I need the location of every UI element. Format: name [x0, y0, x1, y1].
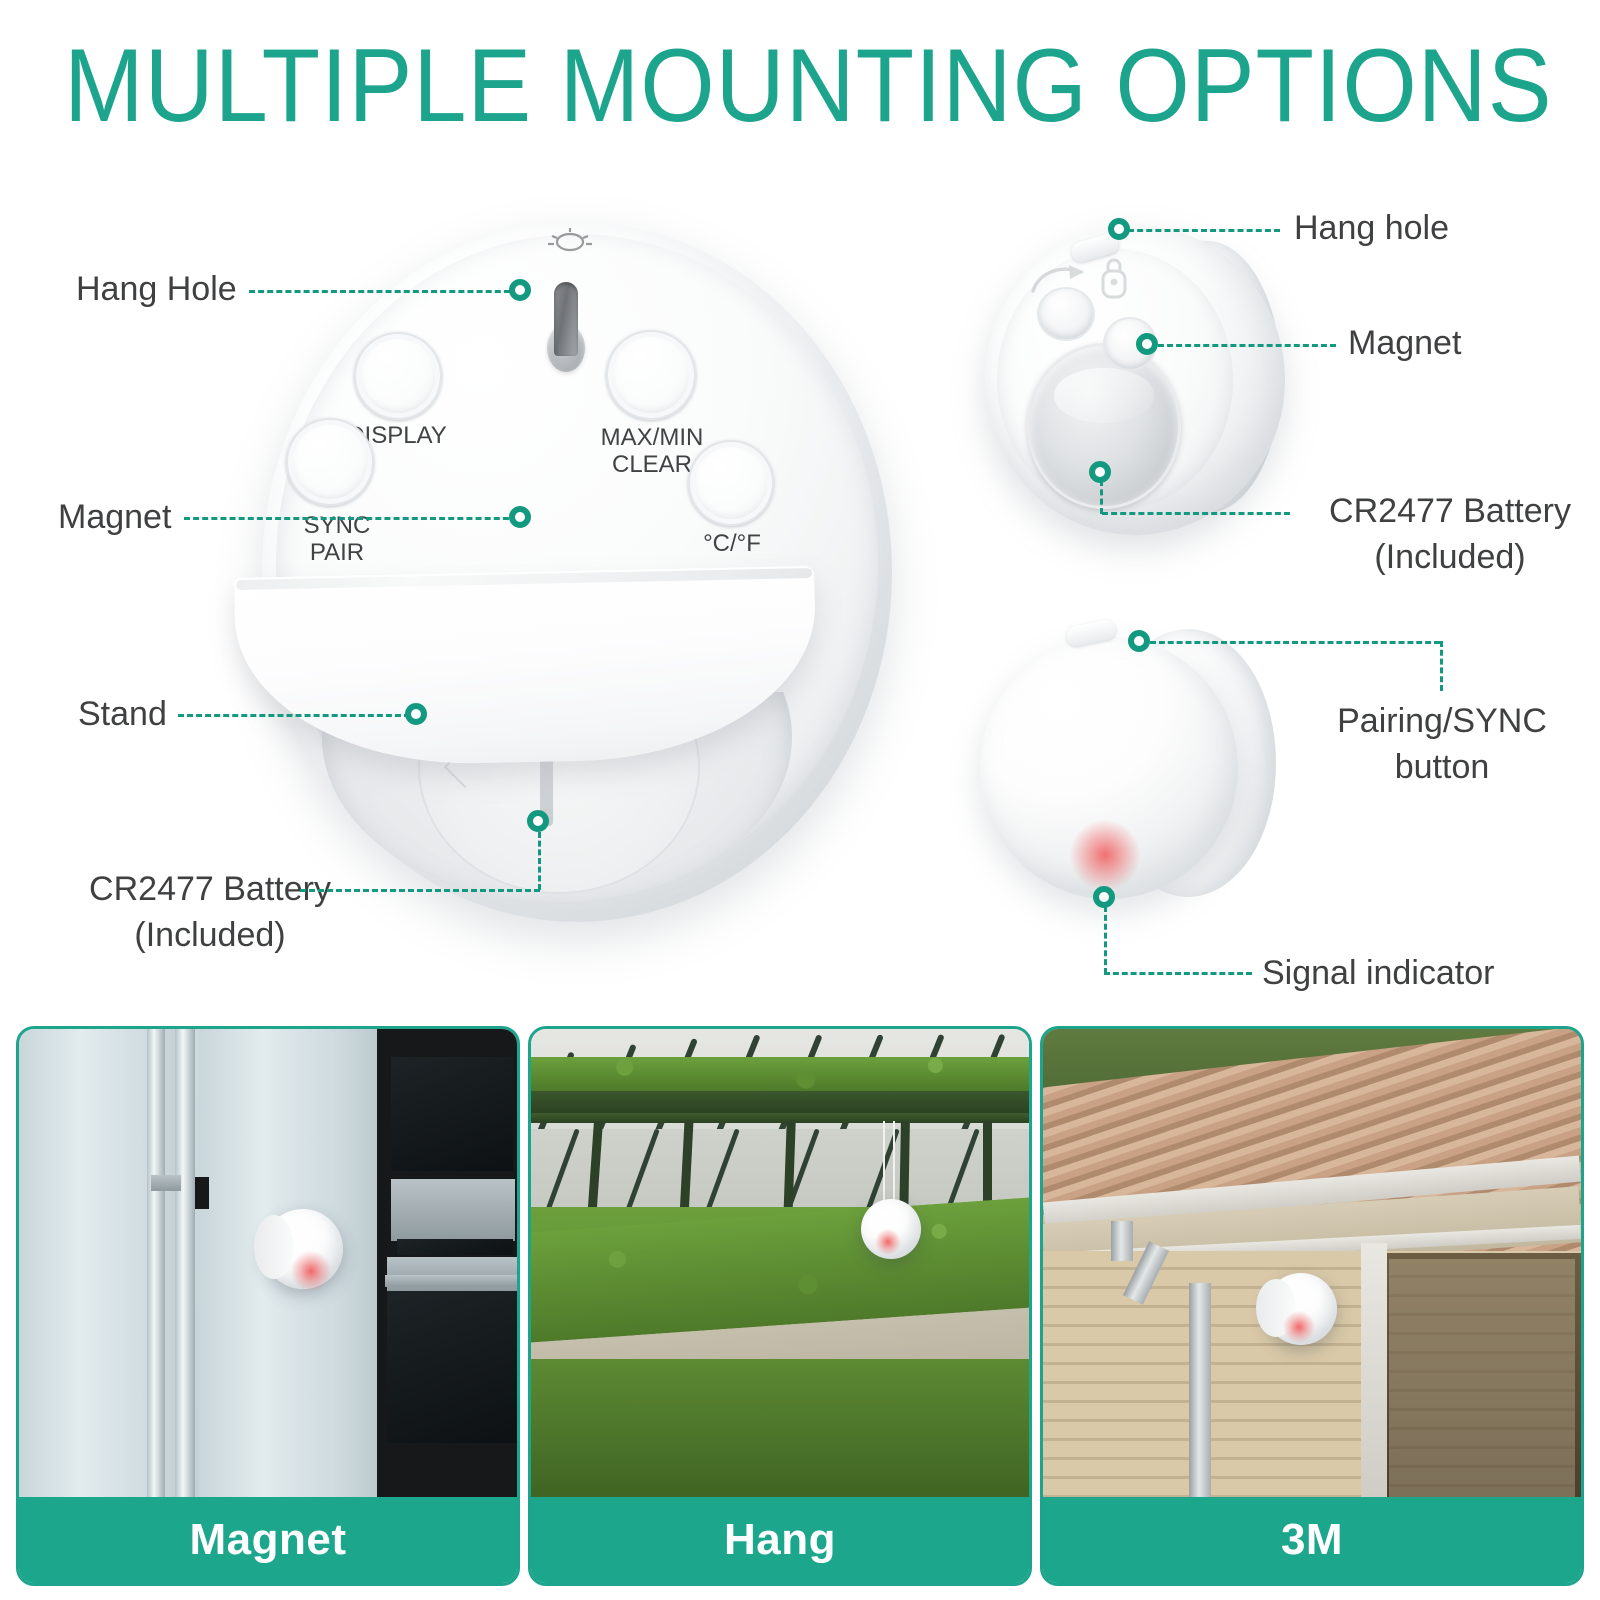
callout-pairing-sync-marker	[1128, 630, 1150, 652]
cr2477-coin-battery	[1027, 343, 1181, 509]
callout-back-hang-hole-marker	[1108, 218, 1130, 240]
callout-magnet-marker	[509, 506, 531, 528]
panel-hang[interactable]: Hang	[528, 1026, 1032, 1586]
callout-signal-indicator-label: Signal indicator	[1262, 950, 1494, 996]
callout-signal-indicator-marker	[1093, 886, 1115, 908]
callout-battery-main-label: CR2477 Battery (Included)	[60, 866, 360, 958]
front-view-device-illustration	[980, 615, 1280, 915]
callout-back-battery-label: CR2477 Battery (Included)	[1300, 488, 1600, 580]
photo-refrigerator	[19, 1029, 517, 1497]
pairing-sync-button[interactable]	[1037, 287, 1095, 341]
page-title: MULTIPLE MOUNTING OPTIONS	[64, 34, 1536, 138]
callout-back-battery-line1: CR2477 Battery	[1329, 492, 1571, 530]
callout-back-magnet-label: Magnet	[1348, 320, 1461, 366]
display-button[interactable]	[354, 332, 442, 420]
photo-house-exterior	[1043, 1029, 1581, 1497]
celsius-fahrenheit-button-label: °C/°F	[662, 530, 802, 557]
sensor-puck-on-siding	[1265, 1273, 1337, 1345]
maxmin-label-line2: CLEAR	[612, 451, 692, 478]
max-min-clear-button[interactable]	[606, 330, 696, 420]
callout-back-battery-marker	[1089, 461, 1111, 483]
panel-magnet[interactable]: Magnet	[16, 1026, 520, 1586]
backlight-sun-icon	[537, 220, 603, 260]
maxmin-label-line1: MAX/MIN	[601, 424, 704, 451]
celsius-fahrenheit-button[interactable]	[688, 440, 774, 526]
callout-hang-hole-marker	[509, 279, 531, 301]
panel-caption-magnet: Magnet	[19, 1497, 517, 1583]
callout-hang-hole-label: Hang Hole	[76, 266, 237, 312]
signal-indicator-led	[1070, 820, 1140, 890]
sync-pair-button-label: SYNC PAIR	[252, 512, 422, 566]
sync-label-line2: PAIR	[310, 539, 364, 566]
callout-pairing-sync-line2: button	[1395, 748, 1490, 786]
callout-stand-label: Stand	[78, 691, 167, 737]
mounting-options-panels: Magnet	[0, 1026, 1600, 1588]
callout-back-battery-line2: (Included)	[1374, 538, 1525, 576]
callout-stand-marker	[405, 703, 427, 725]
sensor-puck-hanging	[861, 1199, 921, 1259]
callout-pairing-sync-label: Pairing/SYNC button	[1282, 698, 1600, 790]
callout-battery-main-line2: (Included)	[134, 916, 285, 954]
callout-battery-main-line1: CR2477 Battery	[89, 870, 331, 908]
callout-back-hang-hole-label: Hang hole	[1294, 205, 1449, 251]
back-view-device-illustration	[985, 225, 1285, 535]
callout-battery-main-marker	[527, 810, 549, 832]
panel-caption-3m: 3M	[1043, 1497, 1581, 1583]
main-device-illustration: DISPLAY SYNC PAIR MAX/MIN CLEAR °C/°F	[262, 222, 892, 922]
panel-caption-hang: Hang	[531, 1497, 1029, 1583]
callout-pairing-sync-line1: Pairing/SYNC	[1337, 702, 1547, 740]
sensor-puck-on-fridge	[263, 1209, 343, 1289]
hang-hole-keyhole	[546, 282, 586, 392]
panel-3m[interactable]: 3M	[1040, 1026, 1584, 1586]
callout-magnet-label: Magnet	[58, 494, 171, 540]
infographic-root: MULTIPLE MOUNTING OPTIONS DISPLAY SYNC P…	[0, 0, 1600, 1600]
lock-icon	[1097, 253, 1131, 304]
callout-back-magnet-marker	[1136, 333, 1158, 355]
sync-pair-button[interactable]	[286, 418, 374, 506]
photo-greenhouse	[531, 1029, 1029, 1497]
